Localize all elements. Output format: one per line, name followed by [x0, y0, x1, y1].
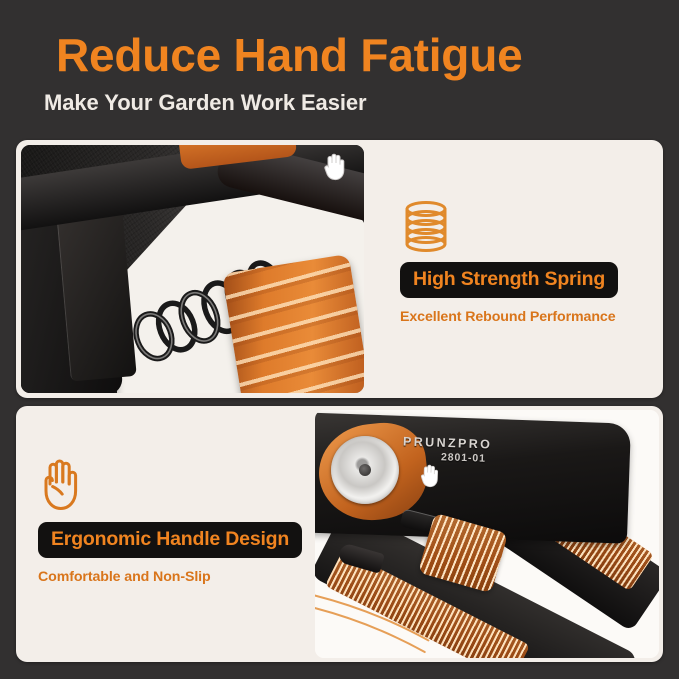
spring-coil-icon: [400, 198, 452, 254]
feature-title-badge-spring: High Strength Spring: [400, 262, 618, 298]
product-feature-poster: Reduce Hand Fatigue Make Your Garden Wor…: [0, 0, 679, 679]
feature-card-handle: Ergonomic Handle Design Comfortable and …: [16, 406, 663, 662]
feature-title-badge-handle: Ergonomic Handle Design: [38, 522, 302, 558]
product-photo-handle: PRUNZPRO 2801-01: [315, 410, 659, 658]
feature-caption-handle: Comfortable and Non-Slip: [38, 569, 306, 585]
product-photo-spring: [21, 145, 364, 393]
feature-card-spring: High Strength Spring Excellent Rebound P…: [16, 140, 663, 398]
grip-pad-ribbed: [222, 254, 364, 393]
grip-pad-ribs: [222, 254, 364, 393]
spring-coil-icon-wrapper: [400, 198, 656, 254]
feature-text-handle: Ergonomic Handle Design Comfortable and …: [38, 458, 306, 585]
raised-hand-icon: [38, 458, 84, 514]
page-title: Reduce Hand Fatigue: [56, 28, 523, 82]
page-subtitle: Make Your Garden Work Easier: [44, 90, 366, 116]
model-label: 2801-01: [441, 451, 486, 465]
feature-caption-spring: Excellent Rebound Performance: [400, 309, 656, 325]
poster-header: Reduce Hand Fatigue Make Your Garden Wor…: [0, 0, 679, 136]
feature-text-spring: High Strength Spring Excellent Rebound P…: [400, 198, 656, 325]
raised-hand-icon-wrapper: [38, 458, 306, 514]
hand-cursor-icon: [419, 464, 442, 489]
pivot-wheel: [331, 436, 399, 504]
hand-cursor-icon: [322, 153, 348, 181]
